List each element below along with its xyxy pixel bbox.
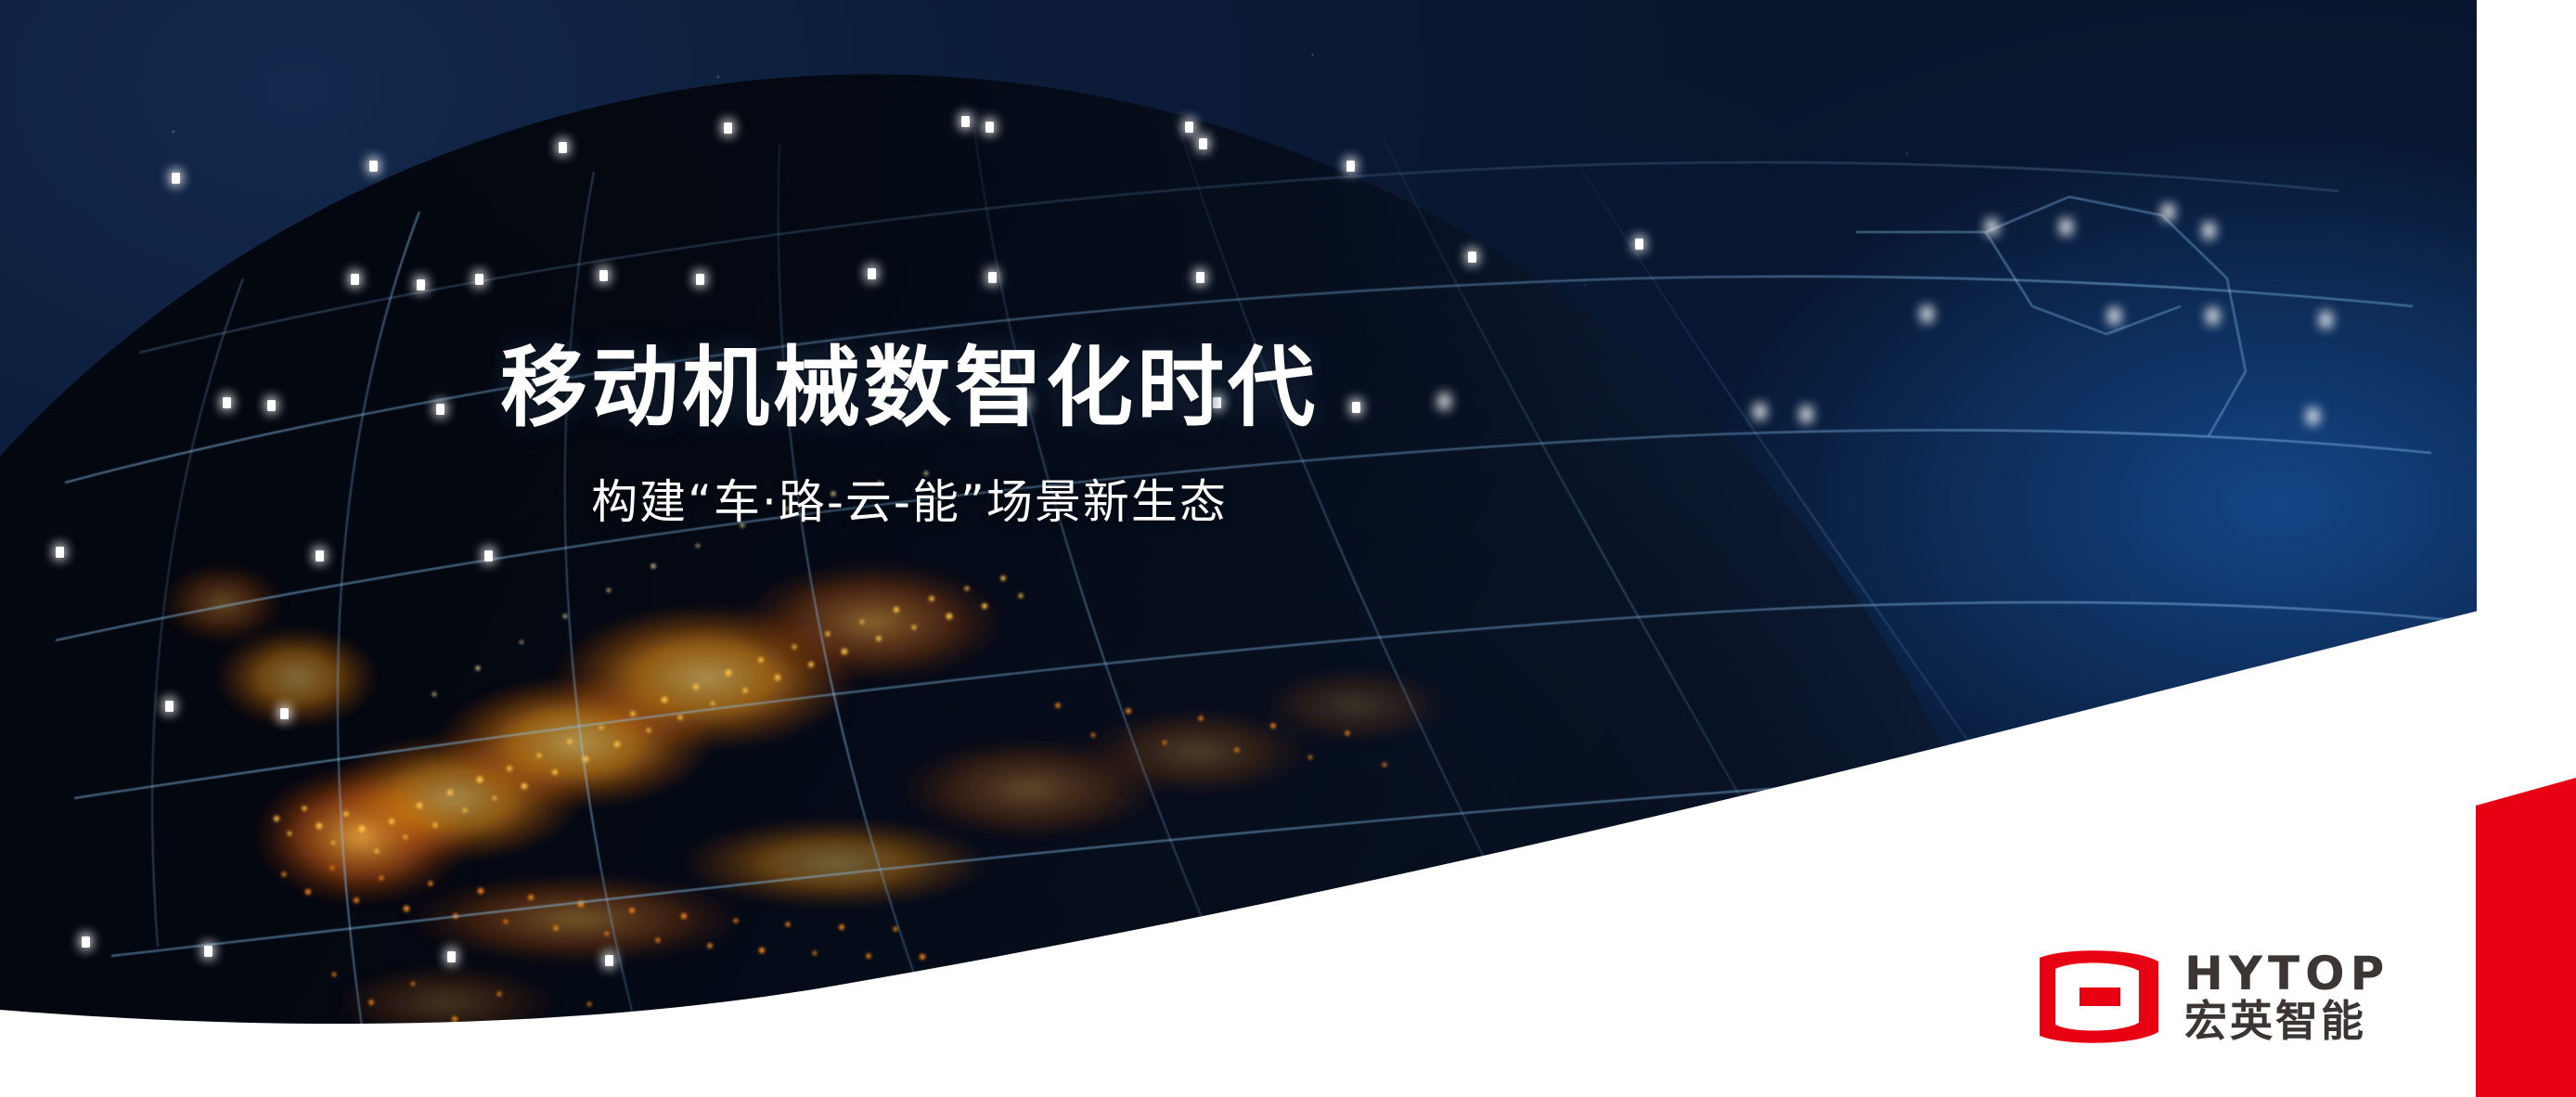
brand-red-edge-bar [2468, 0, 2576, 1097]
logo-chinese-text: 宏英智能 [2184, 999, 2389, 1044]
hytop-logo[interactable]: HYTOP 宏英智能 [2038, 949, 2389, 1045]
space-background [0, 0, 2477, 1097]
globe-body [0, 74, 2060, 1097]
sub-title: 构建“车·路-云-能”场景新生态 [0, 477, 1819, 528]
title-block: 移动机械数智化时代 构建“车·路-云-能”场景新生态 [0, 342, 1819, 528]
earth-globe [0, 74, 2060, 1097]
hytop-g-mark-icon [2038, 949, 2160, 1045]
logo-wordmark: HYTOP 宏英智能 [2184, 950, 2389, 1044]
main-title: 移动机械数智化时代 [0, 342, 1819, 436]
title-slide: 移动机械数智化时代 构建“车·路-云-能”场景新生态 [0, 0, 2576, 1097]
globe-bright-limb [0, 74, 2060, 1097]
logo-latin-text: HYTOP [2184, 950, 2389, 997]
